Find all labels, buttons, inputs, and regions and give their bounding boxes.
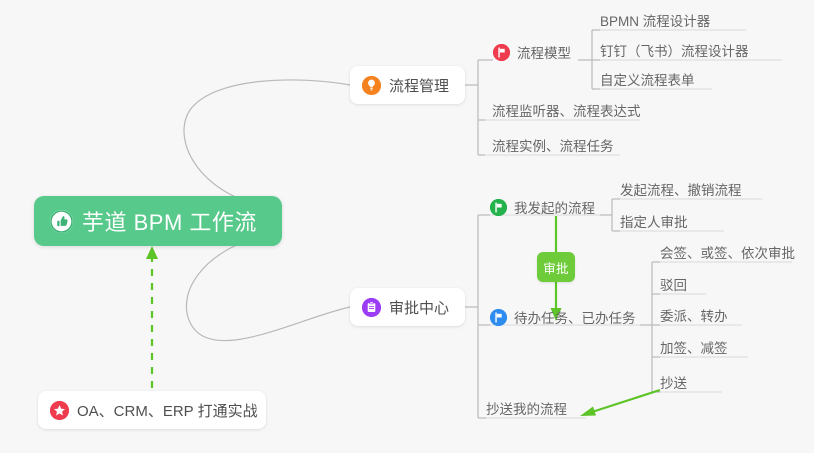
flag-icon — [493, 44, 510, 61]
approval-badge: 审批 — [537, 252, 575, 282]
flag-icon — [490, 199, 507, 216]
thumbs-up-icon — [50, 210, 73, 233]
node-label: 我发起的流程 — [514, 201, 595, 217]
clipboard-icon — [362, 298, 381, 317]
leaf-bpmn-designer[interactable]: BPMN 流程设计器 — [600, 14, 710, 35]
branch-approval-center[interactable]: 审批中心 — [350, 288, 465, 326]
leaf-custom-form[interactable]: 自定义流程表单 — [600, 73, 695, 94]
leaf-start-cancel-process[interactable]: 发起流程、撤销流程 — [620, 183, 742, 204]
star-icon — [50, 401, 69, 420]
node-label: 待办任务、已办任务 — [514, 311, 636, 327]
node-label: 流程模型 — [517, 46, 571, 62]
leaf-cc[interactable]: 抄送 — [660, 376, 687, 397]
mindmap-canvas: 芋道 BPM 工作流 流程管理 流程模型 BPMN 流程设计器 钉钉（飞书）流程 — [0, 0, 814, 453]
leaf-process-listener[interactable]: 流程监听器、流程表达式 — [492, 104, 641, 125]
branch-label: 审批中心 — [389, 297, 449, 318]
node-process-model[interactable]: 流程模型 — [493, 44, 571, 67]
branch-process-management[interactable]: 流程管理 — [350, 66, 465, 104]
integration-note[interactable]: OA、CRM、ERP 打通实战 — [38, 391, 266, 429]
leaf-reject[interactable]: 驳回 — [660, 278, 687, 299]
integration-note-label: OA、CRM、ERP 打通实战 — [77, 400, 258, 421]
root-label: 芋道 BPM 工作流 — [82, 205, 257, 237]
leaf-cc-to-me[interactable]: 抄送我的流程 — [486, 402, 567, 423]
leaf-add-remove-sign[interactable]: 加签、减签 — [660, 341, 728, 362]
approval-badge-label: 审批 — [543, 258, 569, 277]
node-todo-done-tasks[interactable]: 待办任务、已办任务 — [490, 309, 636, 332]
node-my-initiated[interactable]: 我发起的流程 — [490, 199, 595, 222]
lightbulb-icon — [362, 76, 381, 95]
flag-icon — [490, 309, 507, 326]
cc-link-arrow — [592, 390, 660, 412]
branch-label: 流程管理 — [389, 75, 449, 96]
leaf-delegate-transfer[interactable]: 委派、转办 — [660, 309, 728, 330]
leaf-assigned-approval[interactable]: 指定人审批 — [620, 215, 688, 236]
leaf-process-instance[interactable]: 流程实例、流程任务 — [492, 139, 614, 160]
leaf-dingtalk-designer[interactable]: 钉钉（飞书）流程设计器 — [600, 44, 749, 65]
leaf-countersign[interactable]: 会签、或签、依次审批 — [660, 246, 795, 267]
root-node[interactable]: 芋道 BPM 工作流 — [34, 196, 282, 246]
